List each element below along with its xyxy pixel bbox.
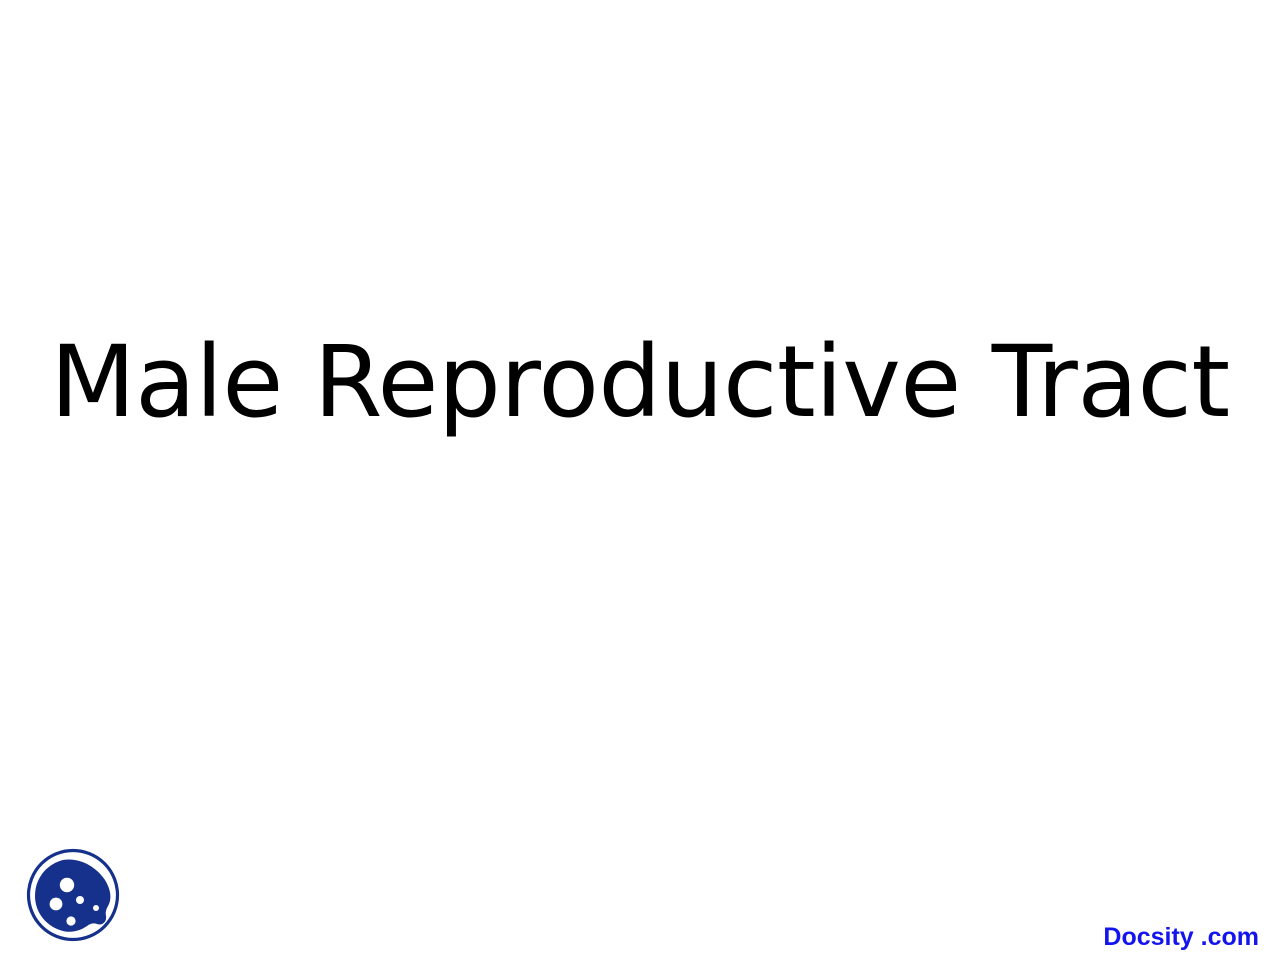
docsity-logo[interactable]: [25, 847, 121, 943]
page-title: Male Reproductive Tract: [0, 330, 1280, 437]
docsity-logo-icon: [25, 847, 121, 943]
slide-title-block: Male Reproductive Tract: [0, 330, 1280, 437]
docsity-wordmark[interactable]: Docsity .com: [1103, 925, 1259, 950]
presentation-slide: Male Reproductive Tract Docsity .com: [0, 0, 1280, 960]
